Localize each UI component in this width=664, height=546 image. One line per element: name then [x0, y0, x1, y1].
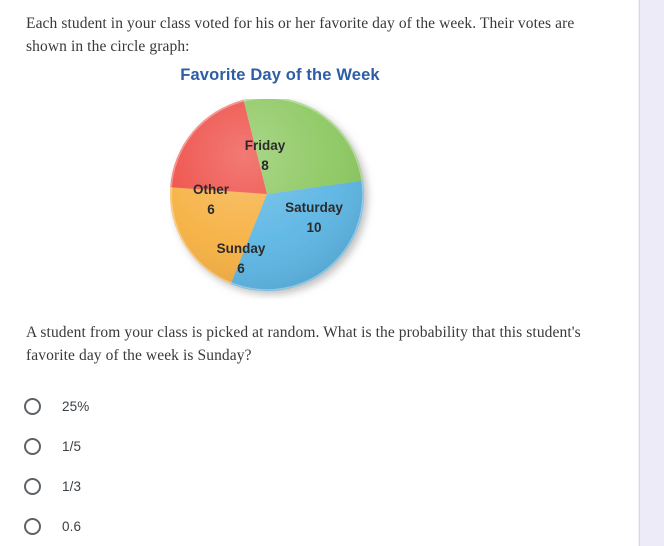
- pie-label-saturday-value: 10: [306, 220, 321, 235]
- pie-chart-figure: Favorite Day of the Week: [0, 66, 560, 299]
- answer-option-3[interactable]: 0.6: [24, 506, 424, 546]
- pie-chart-svg: Friday 8 Saturday 10 Sunday 6 Other 6: [170, 99, 380, 299]
- answer-option-label: 1/5: [62, 439, 81, 454]
- pie-label-sunday-name: Sunday: [217, 241, 266, 256]
- radio-button-icon[interactable]: [24, 518, 41, 535]
- answer-option-0[interactable]: 25%: [24, 386, 424, 426]
- radio-button-icon[interactable]: [24, 438, 41, 455]
- pie-label-other-value: 6: [207, 202, 215, 217]
- pie-label-friday-value: 8: [261, 158, 269, 173]
- pie-chart: Friday 8 Saturday 10 Sunday 6 Other 6: [170, 99, 380, 299]
- radio-button-icon[interactable]: [24, 398, 41, 415]
- radio-button-icon[interactable]: [24, 478, 41, 495]
- right-side-panel: [639, 0, 664, 546]
- question-area: Each student in your class voted for his…: [0, 0, 632, 546]
- pie-label-friday-name: Friday: [245, 138, 286, 153]
- pie-label-sunday-value: 6: [237, 261, 245, 276]
- answer-option-label: 25%: [62, 399, 89, 414]
- answer-option-label: 1/3: [62, 479, 81, 494]
- answer-options-list: 25% 1/5 1/3 0.6: [24, 386, 424, 546]
- question-followup-text: A student from your class is picked at r…: [26, 322, 618, 368]
- answer-option-1[interactable]: 1/5: [24, 426, 424, 466]
- answer-option-label: 0.6: [62, 519, 81, 534]
- answer-option-2[interactable]: 1/3: [24, 466, 424, 506]
- pie-label-saturday-name: Saturday: [285, 200, 343, 215]
- pie-label-other-name: Other: [193, 182, 230, 197]
- chart-title: Favorite Day of the Week: [0, 66, 560, 85]
- question-intro-text: Each student in your class voted for his…: [26, 13, 616, 59]
